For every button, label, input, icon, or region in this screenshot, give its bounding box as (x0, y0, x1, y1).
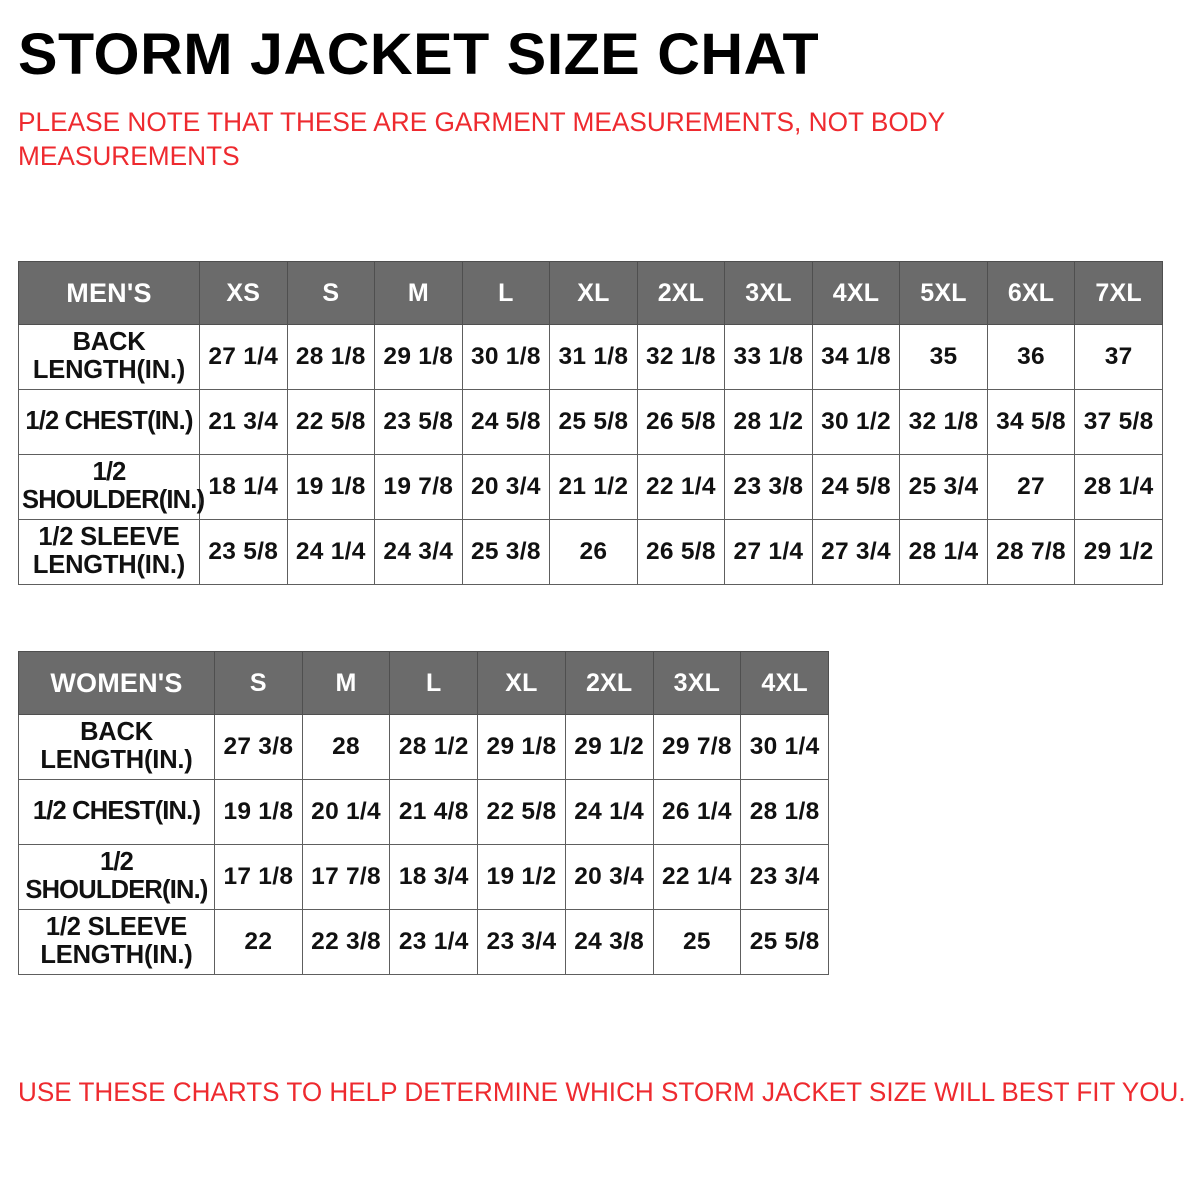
womens-size-column-4xl: 4XL (741, 652, 829, 715)
value-whole: 23 (487, 928, 515, 956)
measurement-value: 321/8 (637, 325, 725, 390)
mens-size-column-l: L (462, 262, 550, 325)
garment-measurement-note: PLEASE NOTE THAT THESE ARE GARMENT MEASU… (18, 84, 968, 174)
value-fraction: 5/8 (506, 408, 541, 436)
value-fraction: 1/8 (785, 798, 820, 826)
value-whole: 22 (311, 928, 339, 956)
measurement-value: 287/8 (987, 520, 1075, 585)
value-fraction: 5/8 (1119, 408, 1154, 436)
measurement-value: 281/8 (287, 325, 375, 390)
value-whole: 24 (471, 408, 499, 436)
value-fraction: 3/4 (434, 863, 469, 891)
value-whole: 26 (579, 538, 607, 566)
value-whole: 29 (574, 733, 602, 761)
value-whole: 34 (996, 408, 1024, 436)
measurement-value: 281/8 (741, 780, 829, 845)
womens-measurement-label: BACKLENGTH(IN.) (19, 715, 215, 780)
value-whole: 23 (208, 538, 236, 566)
value-whole: 31 (558, 343, 586, 371)
measurement-value: 271/4 (725, 520, 813, 585)
mens-measurement-label: 1/2 CHEST(IN.) (19, 390, 200, 455)
measurement-value: 235/8 (375, 390, 463, 455)
womens-size-table: WOMEN'SSMLXL2XL3XL4XL BACKLENGTH(IN.)273… (18, 651, 829, 975)
measurement-value: 291/8 (478, 715, 566, 780)
measurement-value: 233/4 (741, 845, 829, 910)
value-fraction: 1/2 (593, 473, 628, 501)
value-whole: 28 (909, 538, 937, 566)
measurement-value: 311/8 (550, 325, 638, 390)
womens-size-table-container: WOMEN'SSMLXL2XL3XL4XL BACKLENGTH(IN.)273… (18, 651, 829, 975)
womens-table-header: WOMEN'SSMLXL2XL3XL4XL (19, 652, 829, 715)
value-whole: 28 (734, 408, 762, 436)
mens-size-column-6xl: 6XL (987, 262, 1075, 325)
value-whole: 26 (646, 538, 674, 566)
value-whole: 37 (1084, 408, 1112, 436)
value-whole: 30 (471, 343, 499, 371)
measurement-value: 231/4 (390, 910, 478, 975)
measurement-value: 291/8 (375, 325, 463, 390)
value-whole: 22 (487, 798, 515, 826)
measurement-value: 22 (215, 910, 303, 975)
value-whole: 23 (383, 408, 411, 436)
value-whole: 26 (662, 798, 690, 826)
measurement-value: 35 (900, 325, 988, 390)
value-whole: 19 (223, 798, 251, 826)
measurement-value: 25 (653, 910, 741, 975)
measurement-value: 253/4 (900, 455, 988, 520)
value-whole: 17 (311, 863, 339, 891)
measurement-value: 291/2 (565, 715, 653, 780)
value-whole: 27 (208, 343, 236, 371)
label-line-1: BACK (22, 329, 196, 357)
measurement-value: 197/8 (375, 455, 463, 520)
measurement-value: 214/8 (390, 780, 478, 845)
value-whole: 27 (223, 733, 251, 761)
value-fraction: 5/8 (785, 928, 820, 956)
value-fraction: 3/4 (943, 473, 978, 501)
measurement-value: 203/4 (462, 455, 550, 520)
mens-header-row: MEN'SXSSMLXL2XL3XL4XL5XL6XL7XL (19, 262, 1163, 325)
value-whole: 26 (646, 408, 674, 436)
value-whole: 23 (399, 928, 427, 956)
measurement-value: 245/8 (462, 390, 550, 455)
value-fraction: 1/8 (506, 343, 541, 371)
measurement-value: 253/8 (462, 520, 550, 585)
value-fraction: 3/8 (768, 473, 803, 501)
value-fraction: 5/8 (856, 473, 891, 501)
measurement-value: 271/4 (200, 325, 288, 390)
value-whole: 37 (1105, 343, 1133, 371)
value-fraction: 1/2 (609, 733, 644, 761)
mens-table-header: MEN'SXSSMLXL2XL3XL4XL5XL6XL7XL (19, 262, 1163, 325)
value-fraction: 3/8 (346, 928, 381, 956)
table-row: 1/2 SHOULDER(IN.)181/4191/8197/8203/4211… (19, 455, 1163, 520)
value-whole: 22 (646, 473, 674, 501)
mens-size-column-s: S (287, 262, 375, 325)
label-line-1: BACK (22, 719, 211, 747)
measurement-value: 203/4 (565, 845, 653, 910)
value-fraction: 1/8 (418, 343, 453, 371)
womens-measurement-label: 1/2 SLEEVELENGTH(IN.) (19, 910, 215, 975)
value-fraction: 1/4 (697, 863, 732, 891)
label-line-2: LENGTH(IN.) (22, 747, 211, 775)
measurement-value: 37 (1075, 325, 1163, 390)
table-row: BACKLENGTH(IN.)271/4281/8291/8301/8311/8… (19, 325, 1163, 390)
value-whole: 29 (662, 733, 690, 761)
value-fraction: 1/4 (768, 538, 803, 566)
measurement-value: 345/8 (987, 390, 1075, 455)
value-fraction: 1/8 (258, 798, 293, 826)
measurement-value: 225/8 (478, 780, 566, 845)
measurement-value: 181/4 (200, 455, 288, 520)
value-fraction: 1/2 (434, 733, 469, 761)
measurement-value: 241/4 (287, 520, 375, 585)
value-whole: 33 (734, 343, 762, 371)
size-chart-page: STORM JACKET SIZE CHAT PLEASE NOTE THAT … (0, 0, 1200, 1200)
value-fraction: 1/8 (521, 733, 556, 761)
value-whole: 20 (471, 473, 499, 501)
value-fraction: 5/8 (243, 538, 278, 566)
value-whole: 28 (750, 798, 778, 826)
measurement-value: 281/2 (390, 715, 478, 780)
value-whole: 18 (208, 473, 236, 501)
womens-size-column-2xl: 2XL (565, 652, 653, 715)
measurement-value: 235/8 (200, 520, 288, 585)
value-fraction: 5/8 (521, 798, 556, 826)
value-whole: 23 (734, 473, 762, 501)
value-fraction: 1/4 (785, 733, 820, 761)
measurement-value: 171/8 (215, 845, 303, 910)
value-whole: 30 (750, 733, 778, 761)
value-fraction: 1/4 (331, 538, 366, 566)
value-whole: 27 (1017, 473, 1045, 501)
measurement-value: 331/8 (725, 325, 813, 390)
table-row: BACKLENGTH(IN.)273/828281/2291/8291/2297… (19, 715, 829, 780)
value-fraction: 1/2 (768, 408, 803, 436)
value-fraction: 1/8 (943, 408, 978, 436)
value-whole: 20 (311, 798, 339, 826)
mens-size-table: MEN'SXSSMLXL2XL3XL4XL5XL6XL7XL BACKLENGT… (18, 261, 1163, 585)
value-fraction: 1/4 (243, 343, 278, 371)
womens-size-column-3xl: 3XL (653, 652, 741, 715)
value-fraction: 3/4 (243, 408, 278, 436)
womens-table-body: BACKLENGTH(IN.)273/828281/2291/8291/2297… (19, 715, 829, 975)
measurement-value: 297/8 (653, 715, 741, 780)
measurement-value: 341/8 (812, 325, 900, 390)
value-whole: 25 (683, 928, 711, 956)
measurement-value: 273/4 (812, 520, 900, 585)
measurement-value: 245/8 (812, 455, 900, 520)
value-whole: 18 (399, 863, 427, 891)
value-whole: 29 (1084, 538, 1112, 566)
mens-measurement-label: BACKLENGTH(IN.) (19, 325, 200, 390)
value-whole: 24 (821, 473, 849, 501)
value-fraction: 5/8 (593, 408, 628, 436)
label-line-2: LENGTH(IN.) (22, 552, 196, 580)
measurement-value: 291/2 (1075, 520, 1163, 585)
table-row: 1/2 SLEEVELENGTH(IN.)235/8241/4243/4253/… (19, 520, 1163, 585)
measurement-value: 255/8 (550, 390, 638, 455)
value-whole: 25 (909, 473, 937, 501)
label-line-1: 1/2 SLEEVE (22, 524, 196, 552)
value-fraction: 5/8 (331, 408, 366, 436)
value-fraction: 3/4 (506, 473, 541, 501)
measurement-value: 211/2 (550, 455, 638, 520)
measurement-value: 183/4 (390, 845, 478, 910)
label-line-2: LENGTH(IN.) (22, 942, 211, 970)
mens-size-column-m: M (375, 262, 463, 325)
value-whole: 17 (223, 863, 251, 891)
value-fraction: 3/4 (785, 863, 820, 891)
value-whole: 32 (909, 408, 937, 436)
measurement-value: 301/8 (462, 325, 550, 390)
value-fraction: 7/8 (1031, 538, 1066, 566)
mens-size-column-xl: XL (550, 262, 638, 325)
mens-size-column-7xl: 7XL (1075, 262, 1163, 325)
measurement-value: 265/8 (637, 520, 725, 585)
value-whole: 28 (1084, 473, 1112, 501)
measurement-value: 241/4 (565, 780, 653, 845)
value-whole: 34 (821, 343, 849, 371)
value-whole: 28 (399, 733, 427, 761)
value-fraction: 1/4 (346, 798, 381, 826)
value-whole: 19 (296, 473, 324, 501)
value-whole: 22 (662, 863, 690, 891)
measurement-value: 28 (302, 715, 390, 780)
value-fraction: 7/8 (346, 863, 381, 891)
value-fraction: 3/8 (609, 928, 644, 956)
value-fraction: 1/8 (258, 863, 293, 891)
measurement-value: 221/4 (637, 455, 725, 520)
mens-measurement-label: 1/2 SLEEVELENGTH(IN.) (19, 520, 200, 585)
value-fraction: 1/4 (243, 473, 278, 501)
measurement-value: 243/8 (565, 910, 653, 975)
value-whole: 28 (996, 538, 1024, 566)
page-title: STORM JACKET SIZE CHAT (18, 0, 1200, 84)
measurement-value: 375/8 (1075, 390, 1163, 455)
value-whole: 21 (208, 408, 236, 436)
value-whole: 30 (821, 408, 849, 436)
value-fraction: 7/8 (697, 733, 732, 761)
value-fraction: 3/4 (418, 538, 453, 566)
value-fraction: 3/8 (506, 538, 541, 566)
mens-size-column-2xl: 2XL (637, 262, 725, 325)
value-whole: 25 (750, 928, 778, 956)
measurement-value: 233/8 (725, 455, 813, 520)
womens-size-column-m: M (302, 652, 390, 715)
value-fraction: 1/8 (768, 343, 803, 371)
value-whole: 21 (558, 473, 586, 501)
mens-size-table-container: MEN'SXSSMLXL2XL3XL4XL5XL6XL7XL BACKLENGT… (18, 261, 1163, 585)
measurement-value: 26 (550, 520, 638, 585)
value-fraction: 5/8 (681, 408, 716, 436)
value-fraction: 5/8 (681, 538, 716, 566)
value-whole: 24 (574, 928, 602, 956)
womens-measurement-label: 1/2 CHEST(IN.) (19, 780, 215, 845)
table-row: 1/2 SLEEVELENGTH(IN.)22223/8231/4233/424… (19, 910, 829, 975)
value-whole: 36 (1017, 343, 1045, 371)
mens-size-column-4xl: 4XL (812, 262, 900, 325)
womens-measurement-label: 1/2 SHOULDER(IN.) (19, 845, 215, 910)
value-whole: 27 (821, 538, 849, 566)
value-fraction: 1/4 (1119, 473, 1154, 501)
measurement-value: 191/8 (287, 455, 375, 520)
use-charts-note: USE THESE CHARTS TO HELP DETERMINE WHICH… (18, 1077, 1186, 1109)
womens-corner-label: WOMEN'S (19, 652, 215, 715)
value-whole: 24 (296, 538, 324, 566)
value-whole: 28 (332, 733, 360, 761)
value-whole: 20 (574, 863, 602, 891)
measurement-value: 301/4 (741, 715, 829, 780)
value-whole: 28 (296, 343, 324, 371)
value-whole: 23 (750, 863, 778, 891)
mens-table-body: BACKLENGTH(IN.)271/4281/8291/8301/8311/8… (19, 325, 1163, 585)
value-whole: 25 (558, 408, 586, 436)
measurement-value: 281/2 (725, 390, 813, 455)
value-whole: 22 (244, 928, 272, 956)
measurement-value: 213/4 (200, 390, 288, 455)
measurement-value: 177/8 (302, 845, 390, 910)
value-fraction: 1/2 (856, 408, 891, 436)
measurement-value: 201/4 (302, 780, 390, 845)
value-whole: 21 (399, 798, 427, 826)
value-fraction: 4/8 (434, 798, 469, 826)
measurement-value: 225/8 (287, 390, 375, 455)
measurement-value: 281/4 (900, 520, 988, 585)
value-fraction: 5/8 (418, 408, 453, 436)
value-fraction: 1/8 (856, 343, 891, 371)
mens-size-column-3xl: 3XL (725, 262, 813, 325)
value-whole: 32 (646, 343, 674, 371)
measurement-value: 261/4 (653, 780, 741, 845)
value-whole: 29 (383, 343, 411, 371)
womens-size-column-s: S (215, 652, 303, 715)
measurement-value: 281/4 (1075, 455, 1163, 520)
measurement-value: 191/8 (215, 780, 303, 845)
value-whole: 22 (296, 408, 324, 436)
measurement-value: 255/8 (741, 910, 829, 975)
measurement-value: 233/4 (478, 910, 566, 975)
value-whole: 29 (487, 733, 515, 761)
measurement-value: 273/8 (215, 715, 303, 780)
value-whole: 27 (734, 538, 762, 566)
mens-size-column-5xl: 5XL (900, 262, 988, 325)
table-row: 1/2 SHOULDER(IN.)171/8177/8183/4191/2203… (19, 845, 829, 910)
label-line-2: LENGTH(IN.) (22, 357, 196, 385)
value-whole: 19 (487, 863, 515, 891)
value-whole: 25 (471, 538, 499, 566)
value-whole: 35 (930, 343, 958, 371)
value-fraction: 1/2 (521, 863, 556, 891)
value-fraction: 1/4 (681, 473, 716, 501)
value-fraction: 1/4 (434, 928, 469, 956)
value-fraction: 5/8 (1031, 408, 1066, 436)
measurement-value: 223/8 (302, 910, 390, 975)
value-fraction: 3/4 (521, 928, 556, 956)
value-fraction: 1/8 (593, 343, 628, 371)
value-fraction: 3/4 (609, 863, 644, 891)
womens-size-column-xl: XL (478, 652, 566, 715)
mens-size-column-xs: XS (200, 262, 288, 325)
measurement-value: 301/2 (812, 390, 900, 455)
value-fraction: 1/8 (331, 473, 366, 501)
value-fraction: 7/8 (418, 473, 453, 501)
measurement-value: 265/8 (637, 390, 725, 455)
measurement-value: 27 (987, 455, 1075, 520)
measurement-value: 221/4 (653, 845, 741, 910)
value-fraction: 1/8 (681, 343, 716, 371)
value-whole: 24 (574, 798, 602, 826)
womens-header-row: WOMEN'SSMLXL2XL3XL4XL (19, 652, 829, 715)
mens-measurement-label: 1/2 SHOULDER(IN.) (19, 455, 200, 520)
table-row: 1/2 CHEST(IN.)191/8201/4214/8225/8241/42… (19, 780, 829, 845)
value-fraction: 1/4 (697, 798, 732, 826)
value-fraction: 1/8 (331, 343, 366, 371)
value-whole: 24 (383, 538, 411, 566)
measurement-value: 243/4 (375, 520, 463, 585)
value-fraction: 3/4 (856, 538, 891, 566)
womens-size-column-l: L (390, 652, 478, 715)
value-fraction: 3/8 (258, 733, 293, 761)
measurement-value: 321/8 (900, 390, 988, 455)
measurement-value: 36 (987, 325, 1075, 390)
value-fraction: 1/2 (1119, 538, 1154, 566)
value-fraction: 1/4 (943, 538, 978, 566)
measurement-value: 191/2 (478, 845, 566, 910)
value-fraction: 1/4 (609, 798, 644, 826)
label-line-1: 1/2 SLEEVE (22, 914, 211, 942)
value-whole: 19 (383, 473, 411, 501)
table-row: 1/2 CHEST(IN.)213/4225/8235/8245/8255/82… (19, 390, 1163, 455)
mens-corner-label: MEN'S (19, 262, 200, 325)
